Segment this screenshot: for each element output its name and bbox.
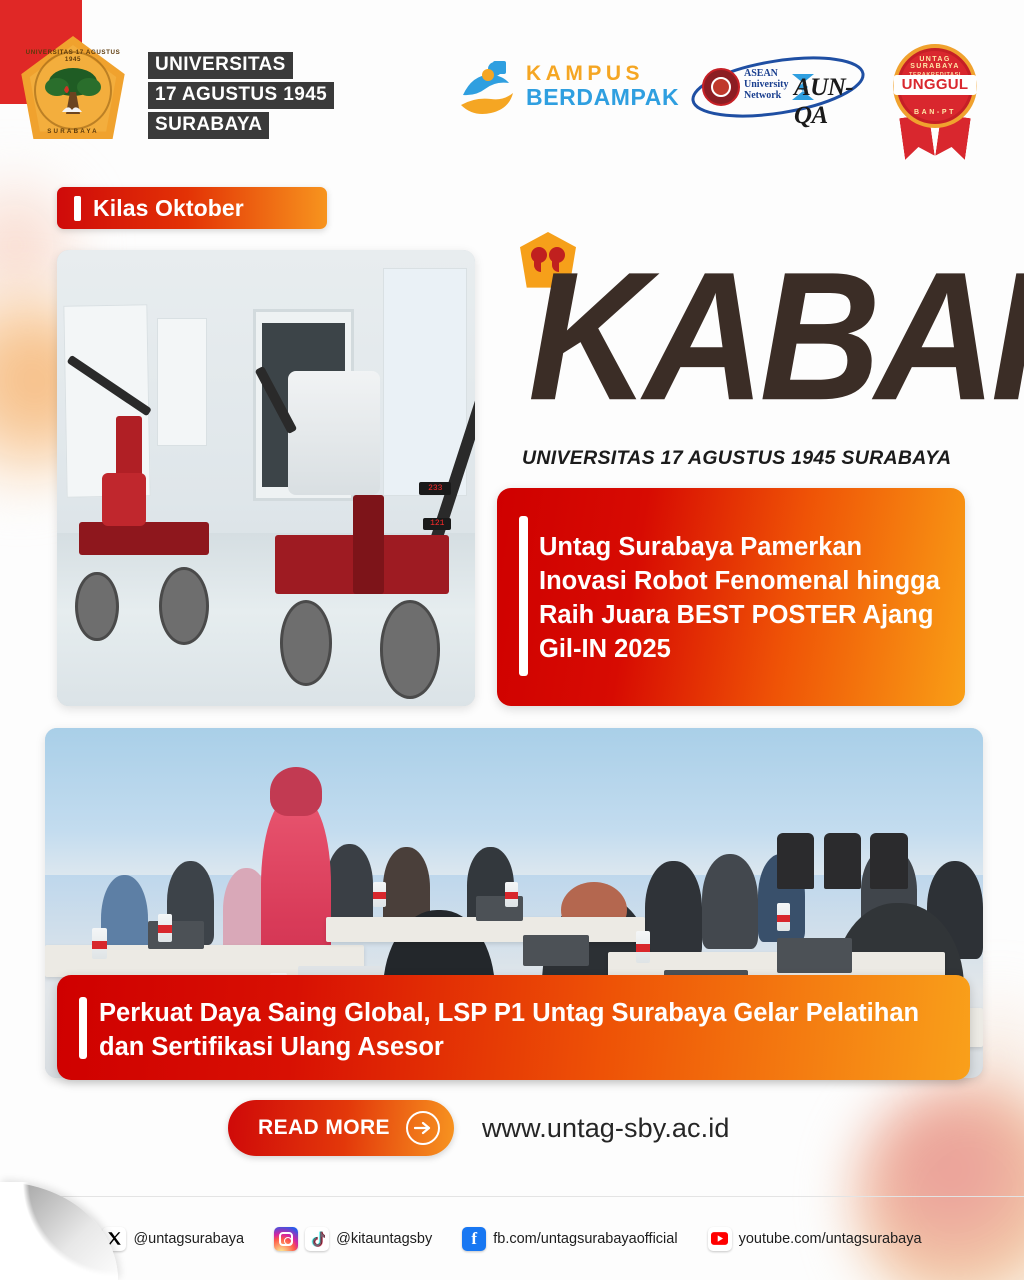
read-more-button[interactable]: READ MORE: [228, 1100, 454, 1156]
article-1-headline: Untag Surabaya Pamerkan Inovasi Robot Fe…: [539, 531, 945, 667]
participant: [326, 844, 373, 928]
article-1-photo: 233 121: [57, 250, 475, 706]
social-x-handle: @untagsurabaya: [133, 1231, 244, 1247]
masthead-subtitle: UNIVERSITAS 17 AGUSTUS 1945 SURABAYA: [522, 447, 951, 470]
aun-network-text: ASEAN University Network: [744, 68, 788, 102]
poster-header: UNIVERSITAS 17 AGUSTUS 1945 SURABAYA UNI…: [0, 0, 1024, 165]
article-2-accent-bar: [79, 997, 87, 1059]
accreditation-ring-bottom: BAN-PT: [897, 109, 973, 116]
kilas-badge: Kilas Oktober: [57, 187, 327, 229]
presenter-head: [270, 767, 322, 816]
social-x[interactable]: @untagsurabaya: [102, 1227, 244, 1251]
seal-tree-icon: [42, 66, 104, 120]
masthead-title: KABAR: [528, 248, 1024, 424]
university-name-line-2: 17 AGUSTUS 1945: [148, 82, 334, 109]
facebook-icon: f: [462, 1227, 486, 1251]
kilas-accent-bar: [74, 196, 81, 221]
social-instagram-tiktok-handle: @kitauntagsby: [336, 1231, 432, 1247]
tiktok-icon: [305, 1227, 329, 1251]
aun-qa-mark: AUN-QA: [794, 74, 870, 130]
accreditation-badge: UNTAG SURABAYA TERAKREDITASI UNGGUL BAN-…: [885, 40, 985, 155]
social-instagram-tiktok[interactable]: @kitauntagsby: [274, 1227, 432, 1251]
accreditation-grade: UNGGUL: [894, 75, 977, 95]
social-facebook-handle: fb.com/untagsurabayaofficial: [493, 1231, 677, 1247]
poster-canvas: UNIVERSITAS 17 AGUSTUS 1945 SURABAYA UNI…: [0, 0, 1024, 1280]
article-1-accent-bar: [519, 516, 528, 676]
participant: [645, 861, 701, 959]
aun-line-1: ASEAN: [744, 68, 788, 79]
article-2-headline-card[interactable]: Perkuat Daya Saing Global, LSP P1 Untag …: [57, 975, 970, 1080]
university-name-line-1: UNIVERSITAS: [148, 52, 293, 79]
university-name-block: UNIVERSITAS 17 AGUSTUS 1945 SURABAYA: [148, 52, 334, 142]
page-curl-mask: [0, 1182, 118, 1280]
social-youtube[interactable]: youtube.com/untagsurabaya: [708, 1227, 922, 1251]
kilas-label: Kilas Oktober: [93, 195, 244, 222]
robot-left: [65, 428, 232, 633]
university-name-line-3: SURABAYA: [148, 112, 269, 139]
robot-right: 233 121: [253, 364, 470, 692]
read-more-label: READ MORE: [258, 1116, 390, 1140]
youtube-icon: [708, 1227, 732, 1251]
kampus-berdampak-line-1: KAMPUS: [526, 63, 679, 84]
arrow-right-icon: [406, 1111, 440, 1145]
social-footer: @untagsurabaya @kitauntagsby f fb.com/un…: [0, 1197, 1024, 1280]
website-url[interactable]: www.untag-sby.ac.id: [482, 1113, 730, 1144]
aun-line-2: University: [744, 79, 788, 90]
instagram-icon: [274, 1227, 298, 1251]
aun-line-3: Network: [744, 90, 788, 101]
kampus-berdampak-logo: KAMPUS BERDAMPAK: [455, 55, 679, 117]
kampus-berdampak-line-2: BERDAMPAK: [526, 86, 679, 109]
aun-qa-logo: ASEAN University Network AUN-QA: [690, 56, 870, 118]
seal-top-text: UNIVERSITAS 17 AGUSTUS 1945: [18, 49, 128, 63]
kampus-berdampak-icon: [455, 55, 517, 117]
social-youtube-handle: youtube.com/untagsurabaya: [739, 1231, 922, 1247]
cta-row: READ MORE www.untag-sby.ac.id: [228, 1100, 729, 1156]
asean-emblem-icon: [702, 68, 740, 106]
article-2-headline: Perkuat Daya Saing Global, LSP P1 Untag …: [99, 997, 950, 1064]
untag-seal-logo: UNIVERSITAS 17 AGUSTUS 1945 SURABAYA: [18, 36, 128, 148]
article-1-headline-card[interactable]: Untag Surabaya Pamerkan Inovasi Robot Fe…: [497, 488, 965, 706]
accreditation-ring-top: UNTAG SURABAYA: [897, 56, 973, 70]
social-facebook[interactable]: f fb.com/untagsurabayaofficial: [462, 1227, 677, 1251]
seal-bottom-text: SURABAYA: [18, 128, 128, 135]
participant: [702, 854, 758, 949]
